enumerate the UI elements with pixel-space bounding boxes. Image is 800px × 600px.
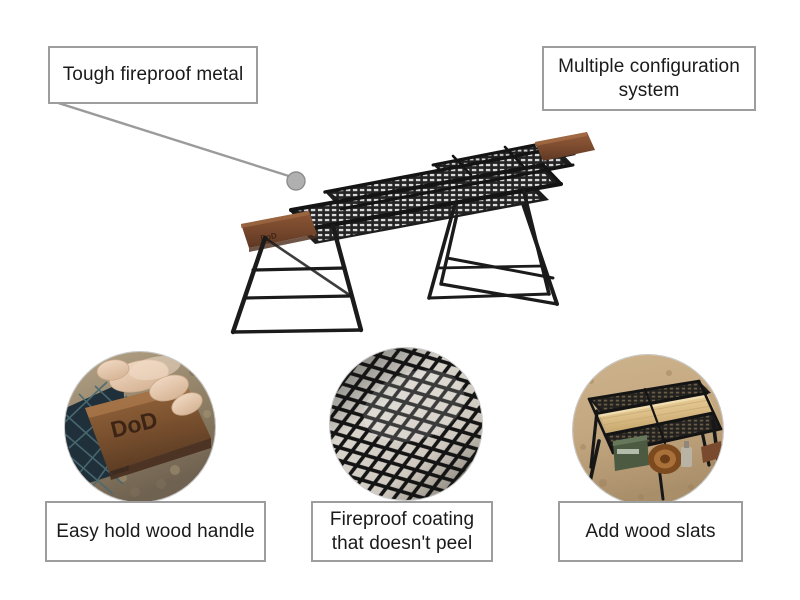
callout-coating-line1: Fireproof coating (330, 508, 474, 531)
callout-add-wood-slats: Add wood slats (558, 501, 743, 562)
callout-handle-label: Easy hold wood handle (56, 520, 255, 543)
callout-multiple-configuration: Multiple configuration system (542, 46, 756, 111)
callout-config-line1: Multiple configuration (558, 55, 740, 78)
callout-coating-line2: that doesn't peel (330, 532, 474, 555)
wood-handle-photo: DoD (65, 352, 215, 502)
callout-slats-label: Add wood slats (585, 520, 715, 543)
callout-config-line2: system (558, 79, 740, 102)
hero-product-image: DoD (205, 118, 595, 353)
infographic-canvas: DoD (0, 0, 800, 600)
mesh-coating-photo (330, 348, 482, 500)
callout-tough-label: Tough fireproof metal (63, 63, 244, 86)
callout-fireproof-coating: Fireproof coating that doesn't peel (311, 501, 493, 562)
callout-config-label: Multiple configuration system (558, 55, 740, 101)
callout-tough-fireproof-metal: Tough fireproof metal (48, 46, 258, 104)
callout-coating-label: Fireproof coating that doesn't peel (330, 508, 474, 554)
callout-easy-hold-handle: Easy hold wood handle (45, 501, 266, 562)
wood-slats-photo (573, 355, 723, 505)
